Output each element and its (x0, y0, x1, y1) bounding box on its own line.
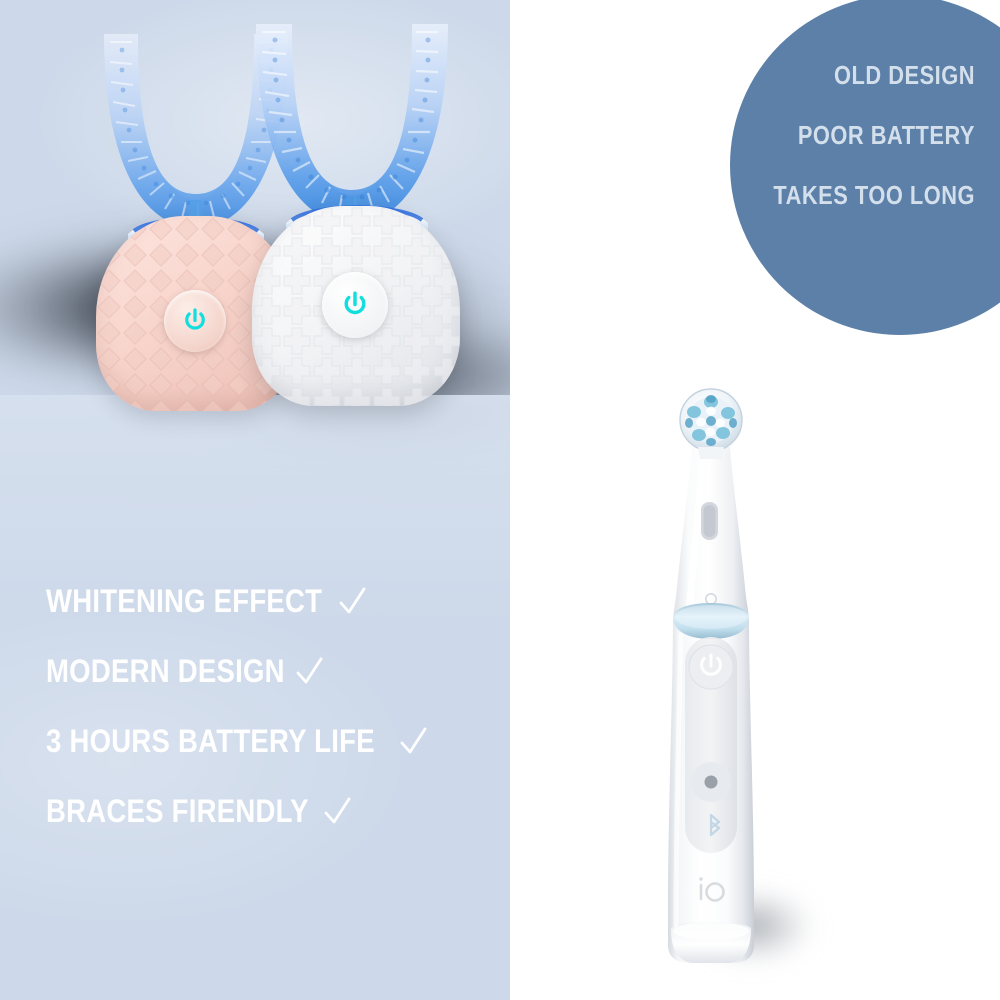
feature-item-modern-design: MODERN DESIGN (46, 636, 476, 706)
power-icon (180, 306, 210, 336)
electric-toothbrush (640, 385, 780, 975)
check-icon (398, 724, 428, 758)
power-button-white[interactable] (322, 272, 388, 338)
feature-label: BRACES FIRENDLY (46, 795, 309, 827)
feature-label: MODERN DESIGN (46, 655, 285, 687)
drawback-item-old-design: OLD DESIGN (723, 62, 975, 88)
drawback-item-poor-battery: POOR BATTERY (723, 122, 975, 148)
ad-canvas: WHITENING EFFECT MODERN DESIGN 3 HOURS B… (0, 0, 1000, 1000)
feature-item-braces-friendly: BRACES FIRENDLY (46, 776, 476, 846)
check-icon (337, 584, 367, 618)
feature-label: 3 HOURS BATTERY LIFE (46, 725, 375, 757)
power-icon (339, 289, 371, 321)
power-button-pink[interactable] (164, 290, 226, 352)
feature-item-whitening-effect: WHITENING EFFECT (46, 566, 476, 636)
electric-toothbrush-svg (640, 385, 780, 975)
check-icon (322, 794, 352, 828)
feature-label: WHITENING EFFECT (46, 585, 322, 617)
device-body-white (252, 206, 460, 406)
feature-item-battery-life: 3 HOURS BATTERY LIFE (46, 706, 476, 776)
check-icon (294, 654, 324, 688)
left-product-panel: WHITENING EFFECT MODERN DESIGN 3 HOURS B… (0, 0, 510, 1000)
drawback-item-takes-too-long: TAKES TOO LONG (723, 182, 975, 208)
feature-list: WHITENING EFFECT MODERN DESIGN 3 HOURS B… (46, 566, 476, 846)
drawbacks-list: OLD DESIGN POOR BATTERY TAKES TOO LONG (675, 62, 975, 208)
